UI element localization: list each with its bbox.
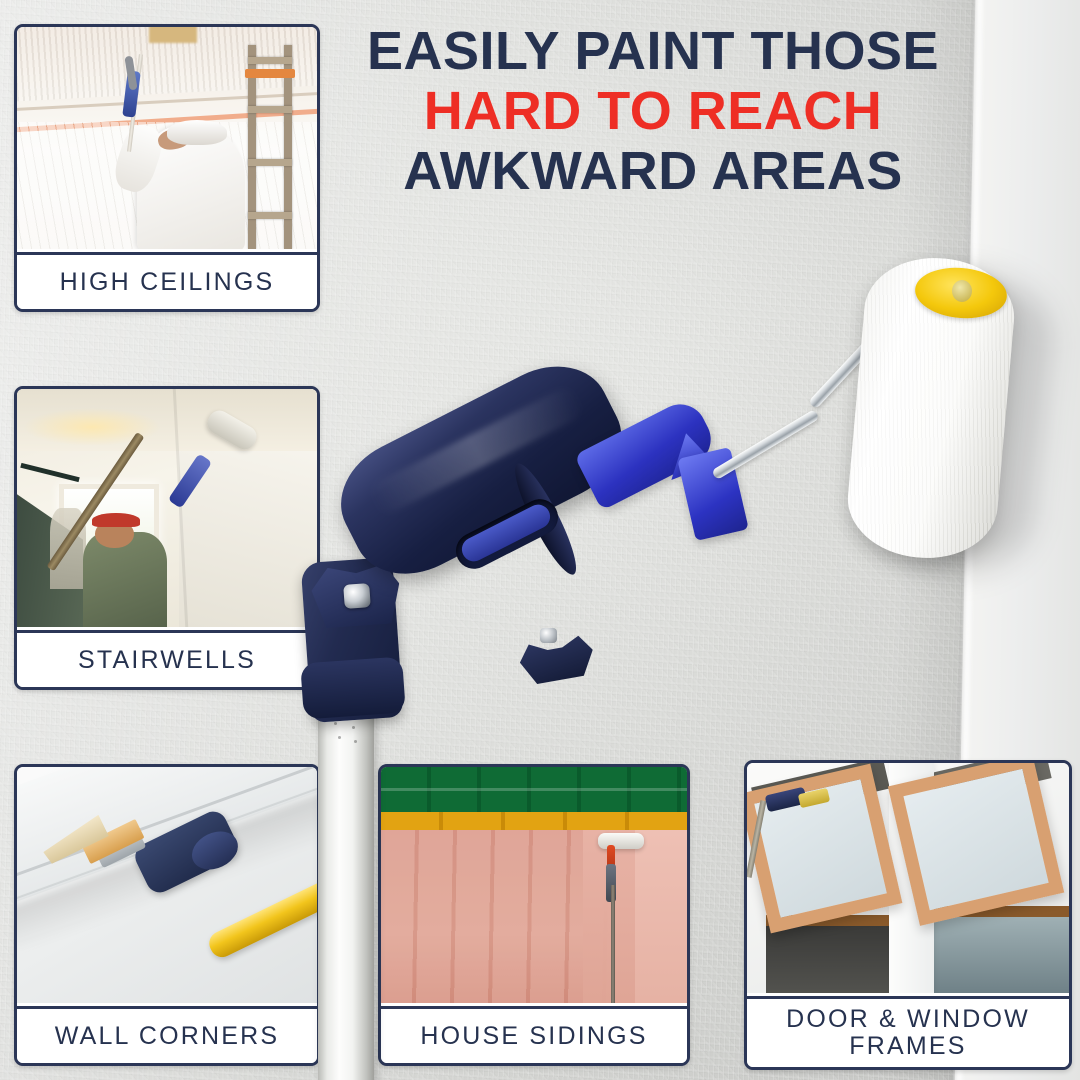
feature-card-wall-corners[interactable]: WALL CORNERS: [14, 764, 320, 1066]
feature-card-door-window-frames[interactable]: DOOR & WINDOW FRAMES: [744, 760, 1072, 1070]
photo-high-ceilings: [17, 27, 317, 249]
photo-stairwells: [17, 389, 317, 627]
card-label-text: HIGH CEILINGS: [60, 269, 275, 296]
card-label-door-window-frames: DOOR & WINDOW FRAMES: [747, 996, 1069, 1067]
card-label-text: STAIRWELLS: [78, 647, 256, 674]
card-label-wall-corners: WALL CORNERS: [17, 1006, 317, 1063]
feature-card-stairwells[interactable]: STAIRWELLS: [14, 386, 320, 690]
photo-house-sidings: [381, 767, 687, 1003]
card-label-text-line2: FRAMES: [849, 1032, 966, 1060]
headline-line-2-accent: HARD TO REACH: [346, 84, 960, 138]
headline-line-1: EASILY PAINT THOSE: [346, 24, 960, 78]
photo-wall-corners: [17, 767, 317, 1003]
feature-card-high-ceilings[interactable]: HIGH CEILINGS: [14, 24, 320, 312]
card-label-high-ceilings: HIGH CEILINGS: [17, 252, 317, 309]
card-label-text: WALL CORNERS: [55, 1023, 280, 1050]
photo-door-window-frames: [747, 763, 1069, 993]
card-label-stairwells: STAIRWELLS: [17, 630, 317, 687]
card-label-house-sidings: HOUSE SIDINGS: [381, 1006, 687, 1063]
headline: EASILY PAINT THOSE HARD TO REACH AWKWARD…: [346, 24, 960, 198]
card-label-text: HOUSE SIDINGS: [420, 1023, 647, 1050]
headline-line-3: AWKWARD AREAS: [346, 144, 960, 198]
feature-card-house-sidings[interactable]: HOUSE SIDINGS: [378, 764, 690, 1066]
card-label-text-line1: DOOR & WINDOW: [786, 1005, 1030, 1033]
infographic-canvas: EASILY PAINT THOSE HARD TO REACH AWKWARD…: [0, 0, 1080, 1080]
